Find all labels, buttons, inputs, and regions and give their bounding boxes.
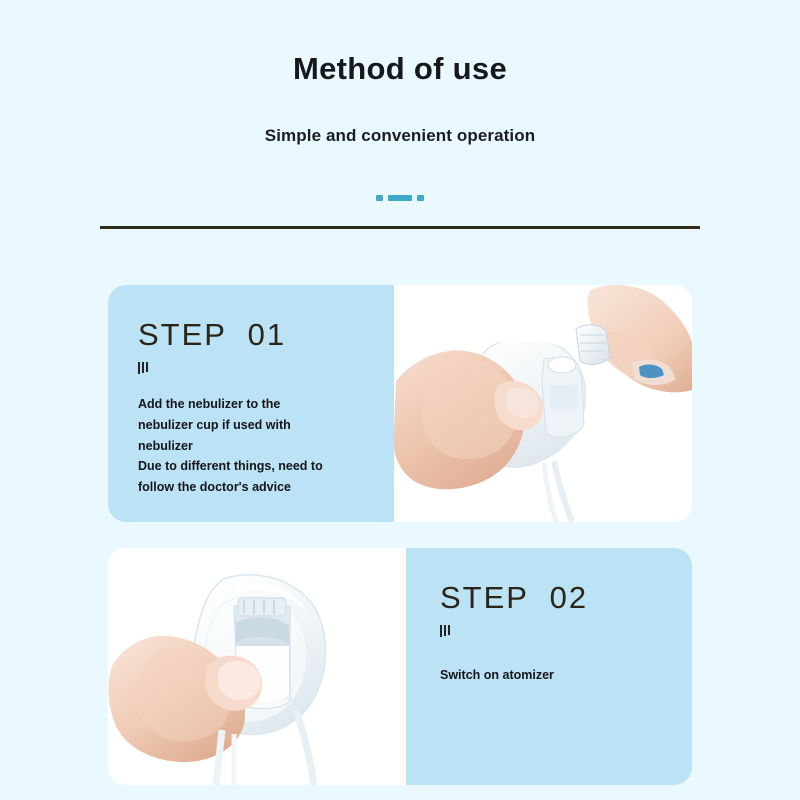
step-01-line-3: nebulizer [138, 438, 368, 456]
page-header: Method of use Simple and convenient oper… [0, 0, 800, 146]
step-01-text-panel: STEP 01 Add the nebulizer to the nebuliz… [108, 285, 394, 522]
section-divider [0, 193, 800, 237]
step-01-line-1: Add the nebulizer to the [138, 396, 368, 414]
step-02-illustration [108, 548, 406, 785]
step-01-line-2: nebulizer cup if used with [138, 417, 368, 435]
step-card-01: STEP 01 Add the nebulizer to the nebuliz… [108, 285, 692, 522]
step-02-line-1: Switch on atomizer [440, 667, 666, 685]
steps-list: STEP 01 Add the nebulizer to the nebuliz… [108, 285, 692, 785]
step-card-02: STEP 02 Switch on atomizer [108, 548, 692, 785]
triple-stroke-mark-icon [138, 362, 368, 374]
page-title: Method of use [0, 52, 800, 86]
step-01-photo [394, 285, 692, 522]
step-01-illustration [394, 285, 692, 522]
page-subtitle: Simple and convenient operation [0, 86, 800, 146]
step-01-line-5: follow the doctor's advice [138, 479, 368, 497]
step-02-label: STEP 02 [440, 582, 666, 613]
horizontal-rule [100, 226, 700, 229]
step-01-line-4: Due to different things, need to [138, 458, 368, 476]
divider-ornament [0, 193, 800, 203]
step-01-description: Add the nebulizer to the nebulizer cup i… [138, 396, 368, 497]
step-02-photo [108, 548, 406, 785]
dash-small-left-icon [376, 195, 383, 201]
dash-large-icon [388, 195, 412, 201]
dash-small-right-icon [417, 195, 424, 201]
step-01-label: STEP 01 [138, 319, 368, 350]
step-02-text-panel: STEP 02 Switch on atomizer [406, 548, 692, 785]
step-02-description: Switch on atomizer [440, 667, 666, 685]
triple-stroke-mark-icon [440, 625, 666, 637]
